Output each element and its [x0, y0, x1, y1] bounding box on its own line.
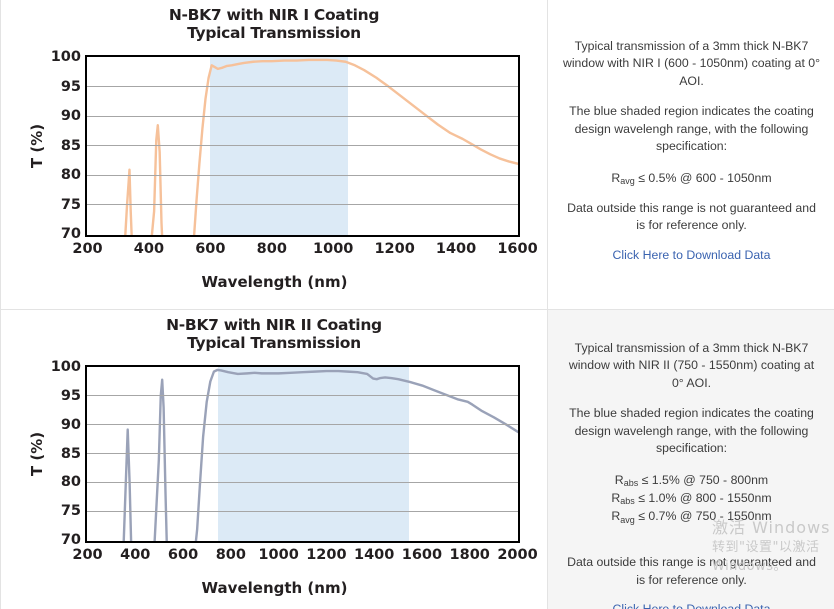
y-tick-label: 95: [61, 388, 81, 404]
chart-title-line1: N-BK7 with NIR II Coating: [166, 316, 382, 334]
chart-title-nir-ii: N-BK7 with NIR II Coating Typical Transm…: [1, 310, 547, 353]
spec-line-ravg: Ravg ≤ 0.5% @ 600 - 1050nm: [562, 169, 821, 187]
x-axis-label-nir-i: Wavelength (nm): [1, 273, 548, 291]
spec-subscript: avg: [620, 515, 635, 525]
spacer: [562, 538, 821, 554]
spec-subscript: abs: [624, 478, 639, 488]
x-tick-label: 1400: [436, 241, 476, 257]
x-tick-label: 400: [134, 241, 164, 257]
gridline-85: [87, 145, 518, 146]
spec-line-ravg: Ravg ≤ 0.7% @ 750 - 1550nm: [562, 507, 821, 525]
x-tick-label: 1600: [497, 241, 537, 257]
chart-title-line2: Typical Transmission: [1, 334, 547, 352]
x-tick-label: 400: [120, 547, 150, 563]
description-paragraph-2: The blue shaded region indicates the coa…: [562, 405, 821, 457]
spec-value: ≤ 0.5% @ 600 - 1050nm: [635, 171, 772, 185]
gridline-75: [87, 204, 518, 205]
gridline-85: [87, 453, 518, 454]
description-paragraph-2: The blue shaded region indicates the coa…: [562, 103, 821, 155]
x-tick-label: 1200: [374, 241, 414, 257]
y-tick-label: 90: [61, 108, 81, 124]
y-tick-label: 75: [61, 503, 81, 519]
y-tick-label: 95: [61, 79, 81, 95]
download-data-link-nir-i[interactable]: Click Here to Download Data: [562, 248, 821, 262]
spec-symbol: R: [611, 171, 620, 185]
spec-symbol: R: [611, 509, 620, 523]
description-cell-nir-ii: Typical transmission of a 3mm thick N-BK…: [548, 310, 834, 609]
gridline-95: [87, 395, 518, 396]
page-root: N-BK7 with NIR I Coating Typical Transmi…: [0, 0, 834, 609]
y-tick-label: 100: [51, 359, 81, 375]
gridline-95: [87, 86, 518, 87]
x-tick-label: 800: [257, 241, 287, 257]
spec-subscript: avg: [620, 176, 635, 186]
x-tick-label: 600: [168, 547, 198, 563]
spec-line-rabs-2: Rabs ≤ 1.0% @ 800 - 1550nm: [562, 489, 821, 507]
x-tick-label: 1000: [313, 241, 353, 257]
x-tick-label: 800: [216, 547, 246, 563]
download-data-link-nir-ii[interactable]: Click Here to Download Data: [562, 602, 821, 609]
y-tick-label: 85: [61, 138, 81, 154]
chart-title-nir-i: N-BK7 with NIR I Coating Typical Transmi…: [1, 0, 547, 43]
spec-value: ≤ 1.0% @ 800 - 1550nm: [635, 491, 772, 505]
spec-subscript: abs: [620, 496, 635, 506]
description-paragraph-3: Data outside this range is not guarantee…: [562, 554, 821, 589]
x-tick-label: 1000: [258, 547, 298, 563]
x-tick-label: 1600: [402, 547, 442, 563]
chart-cell-nir-ii: N-BK7 with NIR II Coating Typical Transm…: [1, 310, 548, 609]
y-axis-ticks-nir-ii: 100959085807570: [37, 365, 81, 543]
specification-list-nir-ii: Rabs ≤ 1.5% @ 750 - 800nm Rabs ≤ 1.0% @ …: [562, 471, 821, 526]
x-tick-label: 200: [72, 547, 102, 563]
y-axis-ticks-nir-i: 100959085807570: [37, 55, 81, 237]
spec-value: ≤ 0.7% @ 750 - 1550nm: [635, 509, 772, 523]
spec-line-rabs-1: Rabs ≤ 1.5% @ 750 - 800nm: [562, 471, 821, 489]
description-paragraph-3: Data outside this range is not guarantee…: [562, 200, 821, 235]
x-tick-label: 1400: [354, 547, 394, 563]
gridline-90: [87, 116, 518, 117]
description-paragraph-1: Typical transmission of a 3mm thick N-BK…: [562, 340, 821, 392]
chart-title-line2: Typical Transmission: [1, 24, 547, 42]
plot-box-nir-i: [85, 55, 520, 237]
y-tick-label: 90: [61, 417, 81, 433]
chart-title-line1: N-BK7 with NIR I Coating: [169, 6, 379, 24]
plot-box-nir-ii: [85, 365, 520, 543]
x-tick-label: 200: [72, 241, 102, 257]
gridline-80: [87, 175, 518, 176]
x-axis-label-nir-ii: Wavelength (nm): [1, 579, 548, 597]
coating-row-nir-ii: N-BK7 with NIR II Coating Typical Transm…: [1, 309, 834, 609]
chart-cell-nir-i: N-BK7 with NIR I Coating Typical Transmi…: [1, 0, 548, 309]
description-cell-nir-i: Typical transmission of a 3mm thick N-BK…: [548, 0, 834, 309]
y-tick-label: 80: [61, 167, 81, 183]
gridline-90: [87, 424, 518, 425]
specification-list-nir-i: Ravg ≤ 0.5% @ 600 - 1050nm: [562, 169, 821, 187]
x-tick-label: 1800: [450, 547, 490, 563]
x-tick-label: 1200: [306, 547, 346, 563]
y-tick-label: 75: [61, 197, 81, 213]
coating-row-nir-i: N-BK7 with NIR I Coating Typical Transmi…: [1, 0, 834, 309]
description-paragraph-1: Typical transmission of a 3mm thick N-BK…: [562, 38, 821, 90]
x-tick-label: 600: [195, 241, 225, 257]
spec-value: ≤ 1.5% @ 750 - 800nm: [638, 473, 768, 487]
gridline-75: [87, 511, 518, 512]
spec-symbol: R: [615, 473, 624, 487]
x-tick-label: 2000: [497, 547, 537, 563]
y-tick-label: 100: [51, 49, 81, 65]
y-tick-label: 80: [61, 474, 81, 490]
spec-symbol: R: [611, 491, 620, 505]
gridline-80: [87, 482, 518, 483]
y-tick-label: 85: [61, 446, 81, 462]
